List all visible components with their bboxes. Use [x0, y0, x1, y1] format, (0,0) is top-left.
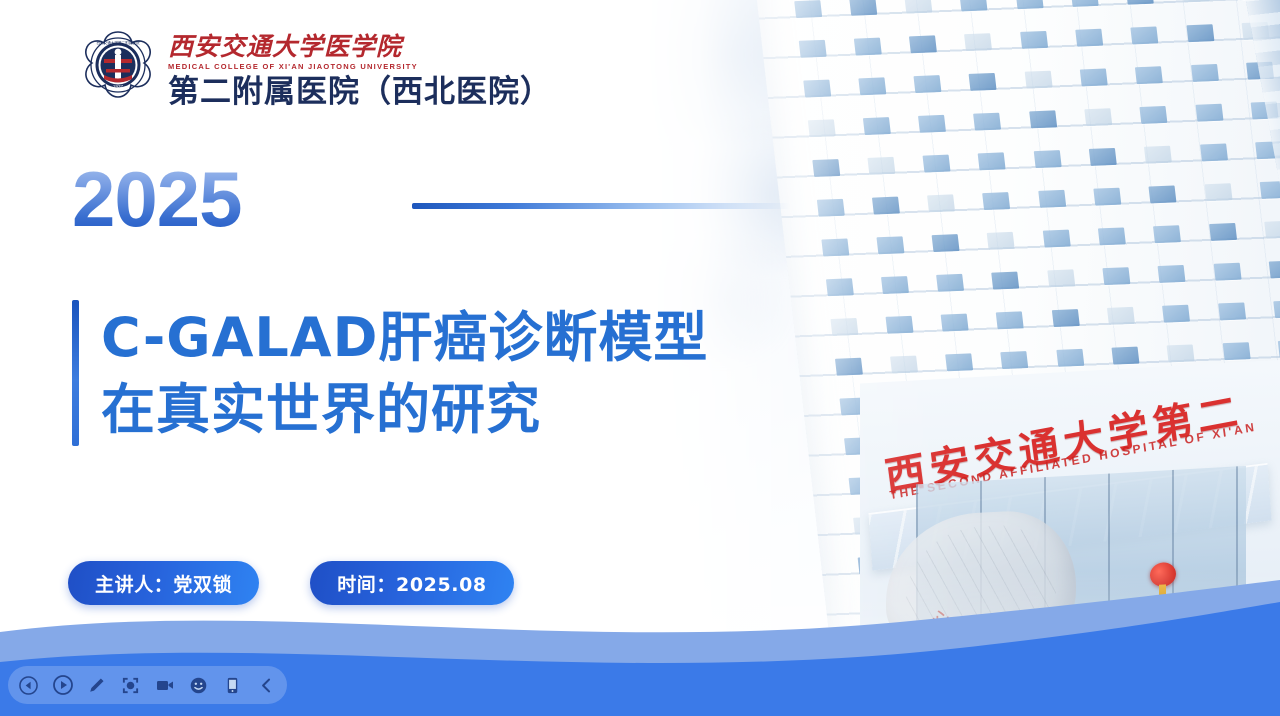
- building-window: [794, 0, 822, 18]
- decorative-rule: [412, 203, 790, 209]
- building-window: [858, 77, 886, 95]
- building-window: [1111, 347, 1139, 365]
- building-window: [1131, 26, 1159, 44]
- building-window: [830, 318, 858, 336]
- building-window: [936, 274, 964, 292]
- building-window: [1191, 64, 1219, 82]
- building-window: [1024, 71, 1052, 89]
- building-window: [996, 311, 1024, 329]
- building-window: [974, 113, 1002, 131]
- building-window: [1093, 188, 1121, 206]
- video-icon[interactable]: [154, 675, 175, 696]
- svg-text:1937: 1937: [113, 84, 124, 89]
- building-window: [1269, 260, 1280, 278]
- building-window: [812, 159, 840, 177]
- building-window: [909, 35, 937, 53]
- building-window: [1158, 265, 1186, 283]
- building-window: [1135, 66, 1163, 84]
- building-window: [1015, 0, 1043, 9]
- logo-university-name-en: MEDICAL COLLEGE OF XI'AN JIAOTONG UNIVER…: [168, 62, 552, 71]
- building-window: [1195, 104, 1223, 122]
- building-window: [1084, 108, 1112, 126]
- emoji-icon[interactable]: [188, 675, 209, 696]
- title-slide: 西安交通大学第二 THE SECOND AFFILIATED HOSPITAL …: [0, 0, 1280, 716]
- building-window: [923, 155, 951, 173]
- building-window: [932, 234, 960, 252]
- building-window: [964, 33, 992, 51]
- previous-icon[interactable]: [18, 675, 39, 696]
- meta-pill-group: 主讲人：党双锁 时间：2025.08: [68, 561, 514, 605]
- building-window: [1144, 146, 1172, 164]
- building-window: [914, 75, 942, 93]
- building-window: [1098, 227, 1126, 245]
- building-window: [872, 197, 900, 215]
- building-window: [1186, 24, 1214, 42]
- building-window: [1167, 344, 1195, 362]
- building-window: [1213, 263, 1241, 281]
- year-heading: 2025: [72, 160, 242, 238]
- building-window: [1126, 0, 1154, 5]
- building-window: [969, 73, 997, 91]
- svg-text:西安交通大学第二附属医院: 西安交通大学第二附属医院: [96, 40, 140, 45]
- building-window: [816, 199, 844, 217]
- building-window: [1020, 31, 1048, 49]
- building-window: [1222, 342, 1250, 360]
- building-window: [876, 236, 904, 254]
- building-window: [1080, 68, 1108, 86]
- building-window: [927, 194, 955, 212]
- building-window: [854, 38, 882, 56]
- logo-hospital-name: 第二附属医院（西北医院）: [168, 76, 552, 109]
- building-window: [807, 119, 835, 137]
- building-window: [1029, 110, 1057, 128]
- building-window: [1089, 148, 1117, 166]
- play-icon[interactable]: [52, 675, 73, 696]
- building-window: [983, 192, 1011, 210]
- building-window: [835, 358, 863, 376]
- logo-text-group: 西安交通大学医学院 MEDICAL COLLEGE OF XI'AN JIAOT…: [168, 32, 552, 109]
- university-crest-icon: 1937 西安交通大学第二附属医院: [78, 29, 158, 111]
- building-window: [1056, 349, 1084, 367]
- title-lines: C-GALAD肝癌诊断模型 在真实世界的研究: [101, 300, 708, 446]
- building-window: [1200, 143, 1228, 161]
- building-window: [1273, 300, 1280, 318]
- page-title: C-GALAD肝癌诊断模型: [101, 302, 708, 374]
- title-block: C-GALAD肝癌诊断模型 在真实世界的研究: [72, 300, 708, 446]
- building-window: [1033, 150, 1061, 168]
- building-window: [1264, 221, 1280, 239]
- building-window: [1102, 267, 1130, 285]
- building-window: [803, 80, 831, 98]
- building-window: [1259, 181, 1280, 199]
- building-window: [1218, 302, 1246, 320]
- building-window: [863, 117, 891, 135]
- logo-university-name: 西安交通大学医学院: [168, 34, 552, 59]
- building-window: [1001, 351, 1029, 369]
- building-window: [826, 278, 854, 296]
- building-window: [1052, 309, 1080, 327]
- building-window: [849, 0, 877, 16]
- building-window: [890, 356, 918, 374]
- building-window: [867, 157, 895, 175]
- player-toolbar: [8, 666, 287, 704]
- building-window: [1204, 183, 1232, 201]
- building-window: [1153, 225, 1181, 243]
- page-subtitle: 在真实世界的研究: [101, 374, 708, 446]
- building-window: [945, 353, 973, 371]
- pencil-icon[interactable]: [86, 675, 107, 696]
- building-window: [881, 276, 909, 294]
- building-window: [885, 316, 913, 334]
- building-window: [1149, 185, 1177, 203]
- building-window: [1162, 305, 1190, 323]
- institution-logo: 1937 西安交通大学第二附属医院 西安交通大学医学院 MEDICAL COLL…: [78, 24, 552, 116]
- building-window: [905, 0, 933, 14]
- mobile-icon[interactable]: [222, 675, 243, 696]
- building-window: [1209, 223, 1237, 241]
- building-window: [1038, 190, 1066, 208]
- building-window: [1071, 0, 1099, 7]
- building-window: [798, 40, 826, 58]
- building-window: [1047, 269, 1075, 287]
- building-window: [1075, 29, 1103, 47]
- building-window: [1043, 230, 1071, 248]
- building-window: [941, 314, 969, 332]
- building-window: [1181, 0, 1209, 2]
- speaker-pill[interactable]: 主讲人：党双锁: [68, 561, 259, 605]
- building-window: [1140, 106, 1168, 124]
- chevron-left-icon[interactable]: [256, 675, 277, 696]
- building-window: [1107, 307, 1135, 325]
- building-window: [987, 232, 1015, 250]
- date-pill[interactable]: 时间：2025.08: [310, 561, 514, 605]
- building-window: [821, 239, 849, 257]
- building-window: [918, 115, 946, 133]
- building-window: [992, 272, 1020, 290]
- title-accent-bar: [72, 300, 79, 446]
- building-window: [960, 0, 988, 11]
- building-window: [978, 152, 1006, 170]
- screenshot-icon[interactable]: [120, 675, 141, 696]
